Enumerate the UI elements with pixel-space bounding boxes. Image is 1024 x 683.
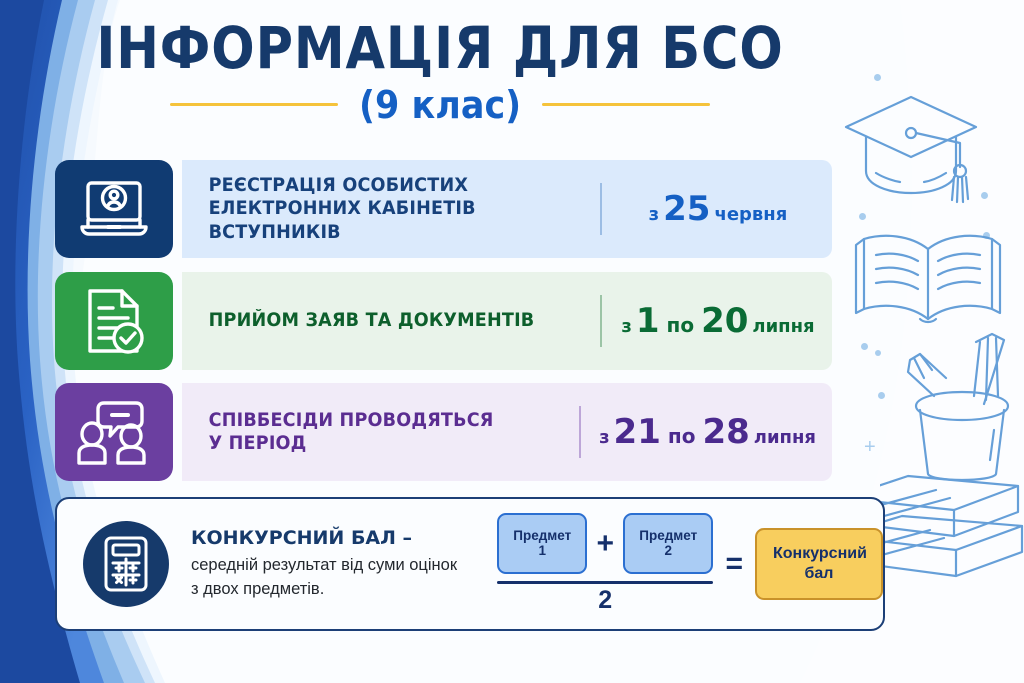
row-date: з 21 по 28 липня — [581, 412, 832, 452]
pencil-cup-icon — [880, 330, 1024, 610]
score-desc-line1: середній результат від суми оцінок — [191, 556, 457, 574]
info-band: РЕЄСТРАЦІЯ ОСОБИСТИХ ЕЛЕКТРОННИХ КАБІНЕТ… — [182, 160, 832, 258]
rule-left — [170, 103, 338, 106]
row-label: РЕЄСТРАЦІЯ ОСОБИСТИХ ЕЛЕКТРОННИХ КАБІНЕТ… — [182, 174, 579, 243]
date-suffix: липня — [754, 427, 816, 448]
date-suffix: липня — [752, 316, 814, 337]
decor-plus-icon: + — [864, 437, 876, 457]
score-desc: середній результат від суми оцінок з дво… — [191, 554, 491, 601]
laptop-user-icon — [77, 177, 151, 241]
date-first: 25 — [663, 189, 710, 229]
denominator: 2 — [598, 586, 612, 615]
info-band: СПІВБЕСІДИ ПРОВОДЯТЬСЯ У ПЕРІОД з 21 по … — [182, 383, 832, 481]
row-label-line1: СПІВБЕСІДИ ПРОВОДЯТЬСЯ — [209, 410, 494, 431]
fraction-bar — [497, 581, 713, 584]
document-check-icon-box — [55, 272, 173, 370]
calculator-icon — [103, 535, 149, 593]
row-label-line1: ПРИЙОМ ЗАЯВ ТА ДОКУМЕНТІВ — [209, 310, 535, 331]
result-chip: Конкурсний бал — [755, 528, 883, 600]
date-second: 20 — [701, 301, 748, 341]
info-band: ПРИЙОМ ЗАЯВ ТА ДОКУМЕНТІВ з 1 по 20 липн… — [182, 272, 832, 370]
formula: Предмет 1 + Предмет 2 2 = Конкурсний бал — [497, 513, 883, 616]
people-speech-icon-box — [55, 383, 173, 481]
decor-dot — [859, 213, 866, 220]
date-mid: по — [668, 424, 696, 448]
document-check-icon — [82, 286, 146, 356]
laptop-user-icon-box — [55, 160, 173, 258]
result-line2: бал — [805, 565, 834, 582]
info-row-interviews: СПІВБЕСІДИ ПРОВОДЯТЬСЯ У ПЕРІОД з 21 по … — [55, 383, 832, 481]
row-label: СПІВБЕСІДИ ПРОВОДЯТЬСЯ У ПЕРІОД — [182, 409, 559, 455]
row-label-line2: ЕЛЕКТРОННИХ КАБІНЕТІВ ВСТУПНИКІВ — [209, 198, 476, 242]
date-prefix: з — [649, 204, 659, 225]
info-row-applications: ПРИЙОМ ЗАЯВ ТА ДОКУМЕНТІВ з 1 по 20 липн… — [55, 272, 832, 370]
score-desc-line2: з двох предметів. — [191, 580, 324, 598]
score-description: КОНКУРСНИЙ БАЛ – середній результат від … — [191, 527, 491, 601]
date-prefix: з — [599, 427, 609, 448]
subject-1-chip: Предмет 1 — [497, 513, 587, 575]
result-line1: Конкурсний — [773, 545, 867, 562]
row-label: ПРИЙОМ ЗАЯВ ТА ДОКУМЕНТІВ — [182, 309, 579, 332]
open-book-icon — [848, 225, 1008, 330]
score-title: КОНКУРСНИЙ БАЛ – — [191, 527, 491, 549]
poster-header: ІНФОРМАЦІЯ ДЛЯ БСО (9 клас) — [0, 18, 880, 127]
fraction: Предмет 1 + Предмет 2 2 — [497, 513, 713, 616]
rule-right — [542, 103, 710, 106]
row-date: з 25 червня — [602, 189, 832, 229]
date-suffix: червня — [714, 204, 787, 225]
people-speech-icon — [74, 399, 154, 465]
row-label-line2: У ПЕРІОД — [209, 433, 307, 454]
date-prefix: з — [621, 316, 631, 337]
date-second: 28 — [702, 412, 749, 452]
infographic-poster: + — [0, 0, 1024, 683]
row-label-line1: РЕЄСТРАЦІЯ ОСОБИСТИХ — [209, 175, 468, 196]
date-first: 1 — [636, 301, 660, 341]
plus-operator-icon: + — [596, 527, 614, 561]
score-formula-panel: КОНКУРСНИЙ БАЛ – середній результат від … — [55, 497, 885, 631]
row-date: з 1 по 20 липня — [602, 301, 832, 341]
decor-dot — [861, 343, 868, 350]
page-title: ІНФОРМАЦІЯ ДЛЯ БСО — [53, 18, 827, 79]
numerator: Предмет 1 + Предмет 2 — [497, 513, 713, 575]
page-subtitle: (9 клас) — [359, 83, 521, 127]
subject-2-chip: Предмет 2 — [623, 513, 713, 575]
date-mid: по — [667, 313, 695, 337]
date-first: 21 — [614, 412, 661, 452]
equals-operator-icon: = — [725, 547, 743, 581]
subtitle-row: (9 клас) — [0, 83, 880, 127]
calculator-icon-box — [83, 521, 169, 607]
info-row-registration: РЕЄСТРАЦІЯ ОСОБИСТИХ ЕЛЕКТРОННИХ КАБІНЕТ… — [55, 160, 832, 258]
